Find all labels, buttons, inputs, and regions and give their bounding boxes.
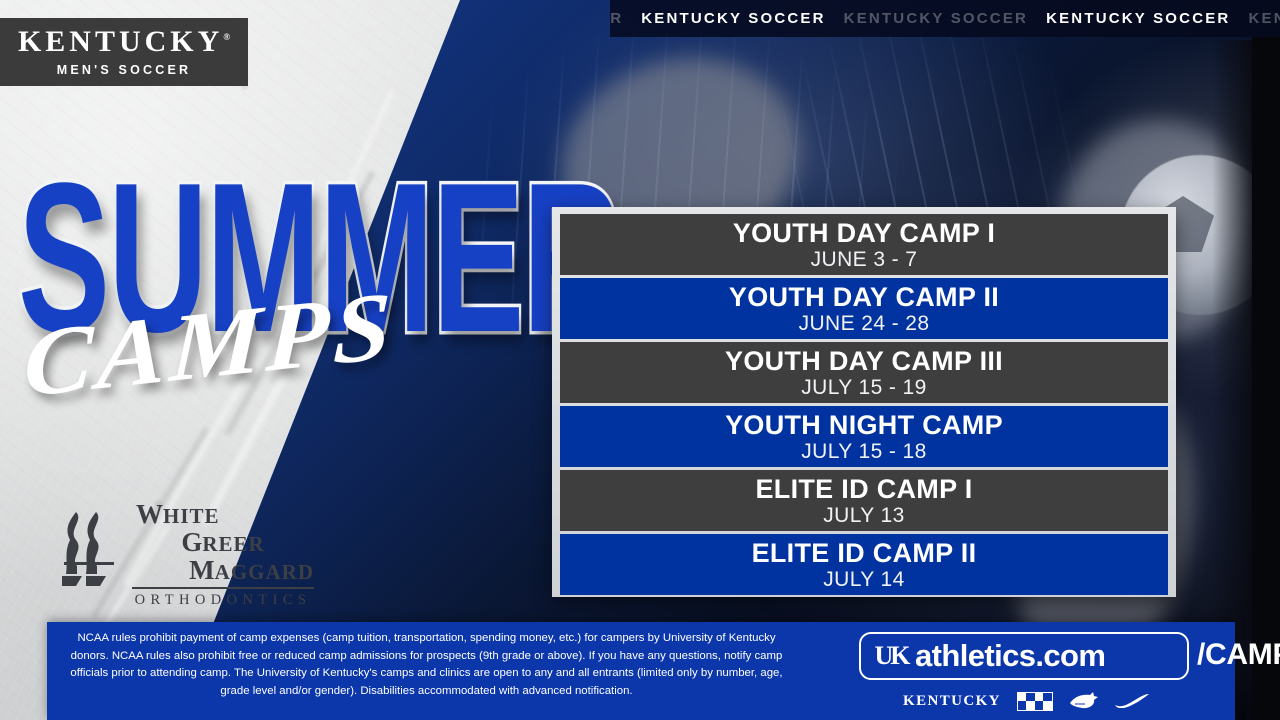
wildcat-icon bbox=[1069, 692, 1099, 710]
ticker-item: KENTUCKY SOCCER bbox=[1046, 10, 1230, 27]
sponsor-icon bbox=[62, 508, 124, 586]
logo-title: KENTUCKY® bbox=[18, 27, 230, 57]
ticker-item: KENTI bbox=[1248, 10, 1280, 27]
sponsor-maggard-rest: AGGARD bbox=[215, 560, 314, 584]
athletics-url-text: athletics.com bbox=[915, 638, 1105, 674]
kentucky-soccer-ticker: ER KENTUCKY SOCCER KENTUCKY SOCCER KENTU… bbox=[610, 0, 1280, 37]
ticker-item: ER bbox=[610, 10, 623, 27]
sponsor-white-cap: W bbox=[136, 499, 163, 529]
table-row[interactable]: YOUTH NIGHT CAMP JULY 15 - 18 bbox=[560, 406, 1168, 467]
table-row[interactable]: ELITE ID CAMP II JULY 14 bbox=[560, 534, 1168, 595]
table-row[interactable]: YOUTH DAY CAMP III JULY 15 - 19 bbox=[560, 342, 1168, 403]
sponsor-white-greer-maggard: WHITE GREER MAGGARD ORTHODONTICS bbox=[62, 500, 312, 610]
ticker-item: KENTUCKY SOCCER bbox=[641, 10, 825, 27]
checkered-flag-icon bbox=[1017, 692, 1053, 711]
ncaa-disclaimer: NCAA rules prohibit payment of camp expe… bbox=[59, 630, 794, 700]
athletics-url-button[interactable]: UK athletics.com bbox=[859, 632, 1189, 680]
camp-dates: JULY 15 - 18 bbox=[801, 440, 926, 463]
url-camps-suffix: /CAMPS bbox=[1197, 638, 1280, 672]
camp-name: YOUTH DAY CAMP II bbox=[729, 283, 999, 312]
camp-name: YOUTH DAY CAMP III bbox=[725, 347, 1003, 376]
table-row[interactable]: ELITE ID CAMP I JULY 13 bbox=[560, 470, 1168, 531]
logo-title-text: KENTUCKY bbox=[18, 25, 223, 58]
partner-logos: KENTUCKY bbox=[903, 688, 1203, 714]
summer-camps-graphic: ER KENTUCKY SOCCER KENTUCKY SOCCER KENTU… bbox=[0, 0, 1280, 720]
sponsor-line-maggard: MAGGARD bbox=[132, 556, 314, 584]
camp-dates: JUNE 3 - 7 bbox=[811, 248, 918, 271]
camp-dates: JULY 13 bbox=[823, 504, 904, 527]
sponsor-maggard-cap: M bbox=[189, 555, 214, 585]
registered-mark: ® bbox=[223, 32, 230, 42]
right-vignette bbox=[1212, 40, 1252, 640]
logo-subtitle: MEN'S SOCCER bbox=[57, 63, 191, 77]
sponsor-line-greer: GREER bbox=[132, 528, 314, 556]
nike-swoosh-icon bbox=[1115, 694, 1149, 708]
camp-name: YOUTH DAY CAMP I bbox=[733, 219, 995, 248]
camp-schedule-table: YOUTH DAY CAMP I JUNE 3 - 7 YOUTH DAY CA… bbox=[552, 207, 1176, 597]
ticker-item: KENTUCKY SOCCER bbox=[844, 10, 1028, 27]
right-edge-band bbox=[1252, 0, 1280, 720]
sponsor-greer-rest: REER bbox=[202, 532, 264, 556]
sponsor-wordmark: WHITE GREER MAGGARD ORTHODONTICS bbox=[132, 500, 314, 609]
camp-name: ELITE ID CAMP II bbox=[752, 539, 977, 568]
sponsor-white-rest: HITE bbox=[163, 504, 220, 528]
camp-dates: JULY 15 - 19 bbox=[801, 376, 926, 399]
sponsor-greer-cap: G bbox=[181, 527, 202, 557]
table-row[interactable]: YOUTH DAY CAMP I JUNE 3 - 7 bbox=[560, 214, 1168, 275]
sponsor-divider bbox=[132, 587, 314, 589]
camp-name: ELITE ID CAMP I bbox=[755, 475, 972, 504]
camp-dates: JULY 14 bbox=[823, 568, 904, 591]
footer-branding: UK athletics.com /CAMPS KENTUCKY bbox=[807, 624, 1227, 720]
table-row[interactable]: YOUTH DAY CAMP II JUNE 24 - 28 bbox=[560, 278, 1168, 339]
footer-bar: NCAA rules prohibit payment of camp expe… bbox=[47, 622, 1235, 720]
sponsor-line-white: WHITE bbox=[132, 500, 314, 528]
uk-wildcat-logo: UK bbox=[871, 640, 911, 672]
sponsor-tagline: ORTHODONTICS bbox=[132, 592, 314, 609]
kentucky-mens-soccer-logo: KENTUCKY® MEN'S SOCCER bbox=[0, 18, 248, 86]
camp-name: YOUTH NIGHT CAMP bbox=[725, 411, 1003, 440]
camp-dates: JUNE 24 - 28 bbox=[799, 312, 930, 335]
partner-kentucky-wordmark: KENTUCKY bbox=[903, 693, 1001, 710]
page-title-camps-wrap: CAMPS bbox=[24, 316, 464, 426]
